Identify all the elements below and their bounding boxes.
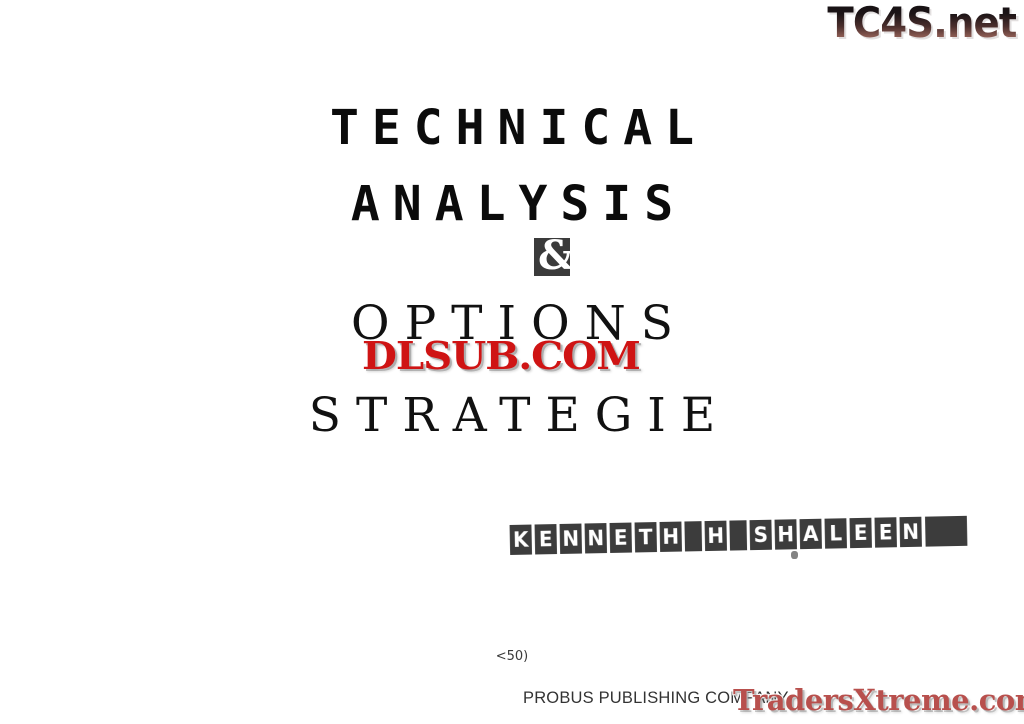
title-line-technical: TECHNICAL [0, 100, 1024, 156]
author-name-strip: KENNETH H SHALEEN [509, 516, 969, 555]
author-letter-tile: S [750, 520, 772, 550]
ampersand-glyph: & [532, 234, 580, 280]
author-letter-tile: T [635, 522, 657, 552]
dlsub-watermark: DLSUB.COM [362, 337, 640, 375]
author-letter-tile: E [850, 518, 872, 548]
scan-speck-artifact [791, 551, 798, 559]
book-cover-page: TC4S.net TC4S.net TECHNICAL ANALYSIS & O… [0, 0, 1024, 724]
author-letter-tile: N [560, 524, 582, 554]
page-mark-artifact: <50) [0, 649, 1024, 664]
author-letter-tile [684, 521, 702, 551]
tradersxtreme-watermark: TradersXtreme.com [733, 686, 1024, 715]
author-letter-tile: N [899, 517, 921, 547]
author-letter-tile: H [660, 522, 682, 552]
author-letter-tile: K [510, 525, 532, 555]
author-letter-tile: A [800, 519, 822, 549]
author-letter-tile: H [705, 521, 727, 551]
author-letter-tile: E [610, 523, 632, 553]
author-letter-tile [729, 520, 747, 550]
title-line-analysis: ANALYSIS [0, 176, 1024, 232]
author-letter-tile: L [825, 518, 847, 548]
author-letter-tile: E [875, 517, 897, 547]
author-letter-tile [925, 516, 967, 547]
author-letter-tile: H [775, 519, 797, 549]
author-letter-tile: E [535, 524, 557, 554]
subtitle-line-strategie: STRATEGIE [0, 388, 1024, 443]
author-letter-tile: N [585, 523, 607, 553]
tc4s-watermark: TC4S.net [827, 2, 1016, 44]
